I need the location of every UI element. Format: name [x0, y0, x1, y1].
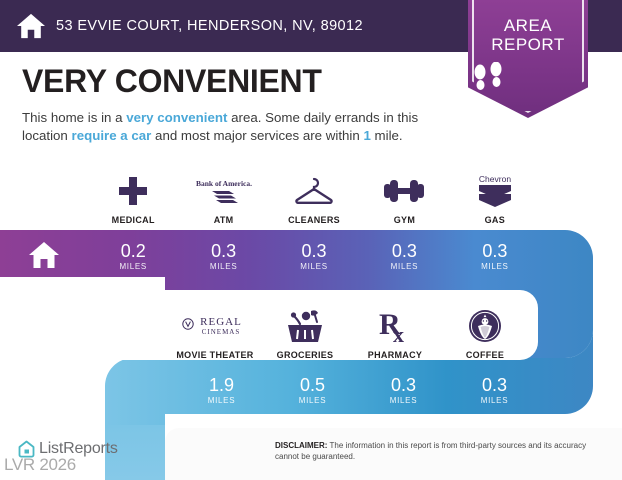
distance-cell: 0.3 MILES [450, 234, 540, 278]
desc-highlight-2: require a car [72, 128, 152, 143]
badge-title: AREA REPORT [468, 16, 588, 54]
distance-value: 0.2 [121, 242, 146, 261]
amenity-row-2-panel: REGAL CINEMAS MOVIE THEATER [0, 290, 538, 360]
svg-text:Chevron: Chevron [479, 174, 511, 184]
amenity-label: CLEANERS [288, 215, 340, 225]
desc-text-3: and most major services are within [151, 128, 363, 143]
desc-text-4: mile. [371, 128, 403, 143]
distance-unit: MILES [119, 262, 147, 271]
distance-unit: MILES [210, 262, 238, 271]
distance-cell: 0.5 MILES [267, 368, 358, 412]
svg-text:x: x [393, 322, 404, 344]
grocery-basket-icon [284, 307, 326, 345]
distance-value: 0.3 [391, 376, 416, 395]
distance-cell: 0.2 MILES [88, 234, 178, 278]
amenity-label: GROCERIES [277, 350, 334, 360]
starbucks-icon [467, 307, 503, 345]
distance-cell: 0.3 MILES [269, 234, 359, 278]
badge-title-line1: AREA [468, 16, 588, 35]
amenity-movie-theater: REGAL CINEMAS MOVIE THEATER [170, 290, 260, 360]
svg-text:Bank of America.: Bank of America. [196, 179, 252, 188]
amenity-row-2-values: 1.9 MILES 0.5 MILES 0.3 MILES 0.3 MILES [176, 368, 540, 412]
amenity-label: MOVIE THEATER [176, 350, 253, 360]
regal-cinemas-icon: REGAL CINEMAS [179, 307, 251, 345]
amenity-label: GYM [394, 215, 415, 225]
distance-cell: 1.9 MILES [176, 368, 267, 412]
property-address: 53 EVVIE COURT, HENDERSON, NV, 89012 [56, 0, 363, 52]
disclaimer-panel: DISCLAIMER: The information in this repo… [165, 428, 622, 480]
amenity-row-1-values: 0.2 MILES 0.3 MILES 0.3 MILES 0.3 MILES … [88, 234, 540, 278]
distance-value: 0.3 [482, 242, 507, 261]
distance-value: 0.5 [300, 376, 325, 395]
home-icon [16, 12, 46, 40]
amenity-groceries: GROCERIES [260, 290, 350, 360]
amenity-gym: GYM [359, 163, 449, 225]
amenity-label: GAS [485, 215, 505, 225]
svg-text:REGAL: REGAL [200, 316, 242, 328]
disclaimer-text: DISCLAIMER: The information in this repo… [275, 440, 605, 462]
medical-cross-icon [118, 172, 148, 210]
amenity-row-1-icons: MEDICAL Bank of America. ATM CLEANERS [88, 163, 540, 225]
distance-cell: 0.3 MILES [178, 234, 268, 278]
amenity-atm: Bank of America. ATM [178, 163, 268, 225]
distance-unit: MILES [481, 262, 509, 271]
area-report-badge: AREA REPORT [468, 0, 588, 118]
distance-value: 0.3 [482, 376, 507, 395]
desc-text-1: This home is in a [22, 110, 126, 125]
home-icon [28, 240, 60, 270]
amenity-pharmacy: R x PHARMACY [350, 290, 440, 360]
amenity-row-2-icons: REGAL CINEMAS MOVIE THEATER [170, 290, 530, 360]
rx-icon: R x [377, 307, 413, 345]
watermark: LVR 2026 [4, 455, 76, 475]
dumbbell-icon [382, 172, 426, 210]
amenity-label: MEDICAL [112, 215, 155, 225]
page-title: VERY CONVENIENT [22, 62, 452, 100]
hanger-icon [294, 172, 334, 210]
distance-unit: MILES [208, 396, 236, 405]
distance-unit: MILES [481, 396, 509, 405]
svg-text:CINEMAS: CINEMAS [202, 328, 241, 336]
desc-highlight-1: very convenient [126, 110, 227, 125]
disclaimer-label: DISCLAIMER: [275, 441, 327, 450]
distance-unit: MILES [300, 262, 328, 271]
amenity-cleaners: CLEANERS [269, 163, 359, 225]
distance-cell: 0.3 MILES [449, 368, 540, 412]
distance-value: 1.9 [209, 376, 234, 395]
hero-section: VERY CONVENIENT This home is in a very c… [22, 62, 452, 145]
badge-title-line2: REPORT [468, 35, 588, 54]
hero-description: This home is in a very convenient area. … [22, 109, 452, 145]
distance-value: 0.3 [302, 242, 327, 261]
distance-cell: 0.3 MILES [358, 368, 449, 412]
distance-cell: 0.3 MILES [359, 234, 449, 278]
amenity-label: COFFEE [466, 350, 504, 360]
distance-unit: MILES [390, 396, 418, 405]
distance-unit: MILES [391, 262, 419, 271]
distance-value: 0.3 [392, 242, 417, 261]
amenity-gas: Chevron GAS [450, 163, 540, 225]
distance-unit: MILES [299, 396, 327, 405]
amenity-label: PHARMACY [368, 350, 422, 360]
footprints-icon [468, 62, 510, 96]
amenity-coffee: COFFEE [440, 290, 530, 360]
bank-of-america-icon: Bank of America. [195, 172, 253, 210]
distance-value: 0.3 [211, 242, 236, 261]
desc-highlight-3: 1 [363, 128, 370, 143]
amenity-medical: MEDICAL [88, 163, 178, 225]
chevron-gas-icon: Chevron [472, 172, 518, 210]
amenity-label: ATM [214, 215, 234, 225]
